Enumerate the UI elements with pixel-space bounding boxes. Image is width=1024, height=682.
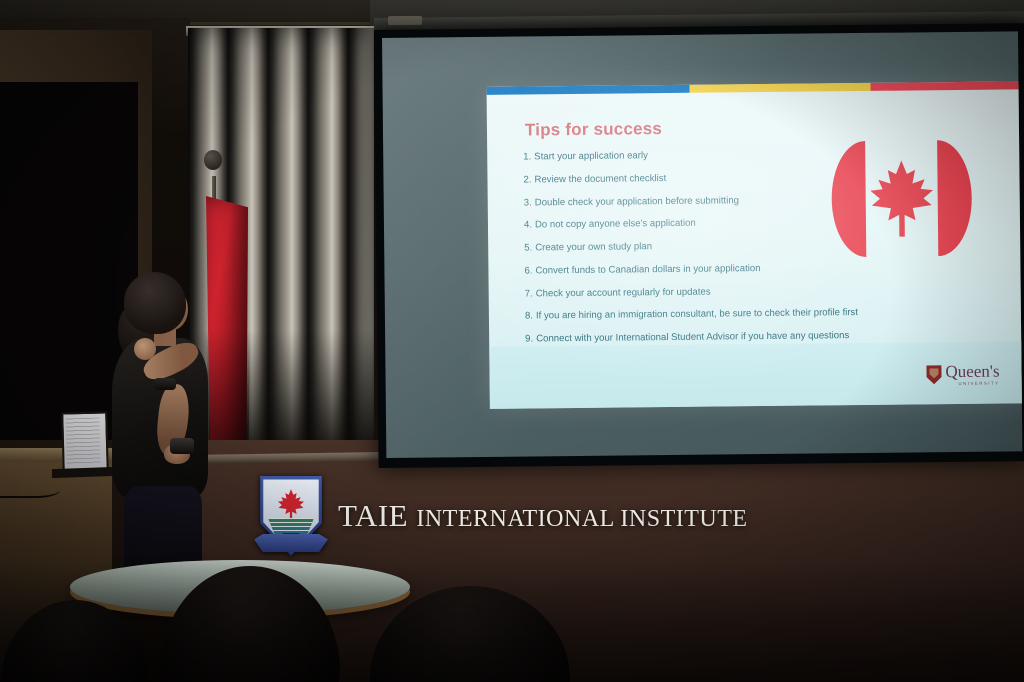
list-item-number: 5.: [524, 243, 532, 254]
list-item: 8.If you are hiring an immigration consu…: [525, 308, 925, 322]
list-item: 6.Convert funds to Canadian dollars in y…: [524, 262, 924, 276]
taie-acronym: TAIE: [338, 498, 408, 533]
list-item-number: 1.: [523, 151, 531, 162]
canadian-flag-icon: [831, 140, 972, 257]
queens-subtext: UNIVERSITY: [946, 381, 1000, 387]
list-item-number: 6.: [524, 265, 532, 276]
projection-screen-label: [388, 16, 422, 25]
list-item-text: Connect with your International Student …: [536, 330, 849, 344]
crest-waves: [268, 518, 314, 534]
accent-bar-blue: [487, 85, 690, 95]
taie-subtitle: INTERNATIONAL INSTITUTE: [416, 506, 747, 532]
presentation-photo-scene: Tips for success 1.Start your applicatio…: [0, 0, 1024, 682]
presenter-raised-hand: [134, 338, 156, 360]
queens-shield-icon: [926, 365, 941, 384]
accent-bar-yellow: [689, 83, 871, 93]
slide-accent-bar: [487, 81, 1021, 95]
list-item-text: Start your application early: [534, 150, 648, 162]
list-item-text: Review the document checklist: [534, 173, 666, 185]
crest-scroll-banner: [254, 534, 328, 552]
list-item-text: Double check your application before sub…: [535, 195, 739, 208]
accent-bar-red: [871, 81, 1021, 91]
maple-leaf-icon: [867, 146, 936, 251]
presenter-speaking: [106, 272, 234, 602]
taie-wordmark: TAIE INTERNATIONAL INSTITUTE: [338, 498, 748, 534]
slide-title: Tips for success: [525, 119, 662, 140]
presentation-clicker: [170, 438, 194, 454]
taie-crest-icon: [258, 478, 324, 554]
projected-slide: Tips for success 1.Start your applicatio…: [487, 81, 1023, 409]
cable: [0, 478, 60, 498]
crest-maple-leaf-icon: [274, 488, 308, 522]
list-item-number: 4.: [524, 220, 532, 231]
list-item-text: Check your account regularly for updates: [536, 286, 711, 299]
projection-screen-surface: Tips for success 1.Start your applicatio…: [382, 31, 1022, 458]
list-item: 7.Check your account regularly for updat…: [525, 285, 925, 299]
presenter-hair: [124, 272, 186, 334]
flag-left-bar: [831, 141, 866, 257]
list-item-number: 9.: [525, 334, 533, 345]
list-item-text: Do not copy anyone else's application: [535, 218, 696, 231]
list-item-text: Convert funds to Canadian dollars in you…: [535, 263, 760, 276]
presenter-wristwatch: [154, 378, 176, 390]
list-item-number: 3.: [524, 197, 532, 208]
queens-university-logo: Queen's UNIVERSITY: [926, 363, 999, 387]
list-item-text: If you are hiring an immigration consult…: [536, 307, 858, 321]
queens-wordmark: Queen's: [945, 363, 999, 381]
flag-pole-finial-icon: [204, 150, 222, 170]
list-item-text: Create your own study plan: [535, 241, 652, 253]
list-item-number: 7.: [525, 288, 533, 299]
taie-watermark: TAIE INTERNATIONAL INSTITUTE: [258, 478, 748, 554]
list-item-number: 2.: [523, 174, 531, 185]
list-item-number: 8.: [525, 311, 533, 322]
flag-right-bar: [937, 140, 972, 256]
laptop-screen-content: [65, 418, 100, 465]
